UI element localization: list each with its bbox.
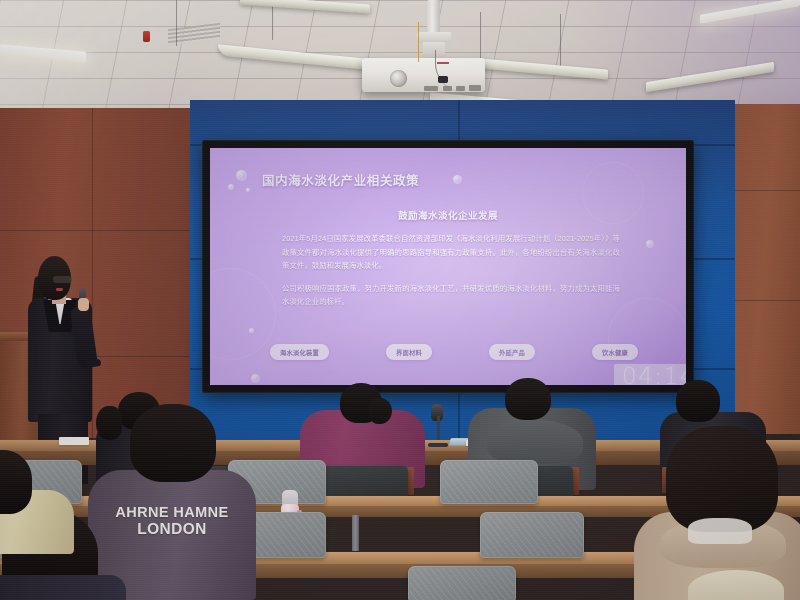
slide-title: 国内海水淡化产业相关政策 bbox=[262, 170, 419, 189]
audience-hair bbox=[130, 404, 216, 482]
slide-subtitle: 鼓励海水淡化企业发展 bbox=[210, 208, 686, 222]
ring-decor-icon bbox=[210, 268, 276, 360]
fire-alarm-icon bbox=[143, 31, 150, 42]
lecture-hall-scene: 国内海水淡化产业相关政策 鼓励海水淡化企业发展 2021年5月24日国家发展改革… bbox=[0, 0, 800, 600]
projector-port bbox=[424, 86, 438, 91]
wood-wall-right bbox=[728, 104, 800, 434]
hoodie-inner-lining bbox=[688, 518, 752, 544]
hoodie-text-line-2: LONDON bbox=[96, 522, 248, 538]
desk-paper bbox=[59, 437, 89, 445]
slide-pill-extended-product[interactable]: 外延产品 bbox=[489, 344, 535, 360]
audience-head bbox=[676, 380, 720, 422]
slide-pill-drinking-water-health[interactable]: 饮水健康 bbox=[592, 344, 638, 360]
slide-body-text: 2021年5月24日国家发展改革委联合自然资源部印发《海水淡化利用发展行动计划（… bbox=[282, 232, 620, 318]
slide-pill-desalination-device[interactable]: 海水淡化装置 bbox=[270, 344, 329, 360]
desk-leg bbox=[352, 515, 359, 551]
slide-paragraph-1: 2021年5月24日国家发展改革委联合自然资源部印发《海水淡化利用发展行动计划（… bbox=[282, 232, 620, 273]
lamp-wire bbox=[560, 14, 561, 66]
countdown-timer: 04:14 bbox=[614, 364, 686, 385]
bubble-decor-icon bbox=[453, 175, 462, 184]
bubble-decor-icon bbox=[246, 188, 250, 192]
presenter-glasses-icon bbox=[53, 276, 72, 283]
bubble-decor-icon bbox=[228, 184, 234, 190]
audience-torso bbox=[0, 575, 126, 600]
audience-hair bbox=[666, 426, 778, 532]
audience-hair bbox=[96, 406, 122, 440]
hoodie-text-line-1: AHRNE HAMNE bbox=[96, 506, 248, 521]
presenter-hand bbox=[78, 298, 89, 311]
projector-port bbox=[469, 85, 481, 91]
slide-pill-row: 海水淡化装置 界面材料 外延产品 饮水健康 bbox=[270, 344, 638, 360]
bubble-decor-icon bbox=[646, 240, 654, 248]
audience-hair-bun bbox=[369, 398, 392, 424]
bubble-decor-icon bbox=[236, 170, 247, 181]
audience-hood bbox=[487, 420, 583, 464]
projector-lens-icon bbox=[390, 70, 407, 87]
presentation-screen[interactable]: 国内海水淡化产业相关政策 鼓励海水淡化企业发展 2021年5月24日国家发展改革… bbox=[210, 148, 686, 385]
lamp-wire bbox=[176, 0, 177, 46]
lamp-wire bbox=[480, 12, 481, 64]
slide-paragraph-2: 公司积极响应国家政策，努力开发新的海水淡化工艺，并研发优质的海水淡化材料，努力成… bbox=[282, 282, 620, 309]
bubble-decor-icon bbox=[251, 374, 260, 383]
projector-cable-tie bbox=[437, 62, 449, 64]
projector-connector bbox=[438, 76, 448, 83]
desk-microphone-base bbox=[428, 443, 448, 447]
presenter-lips bbox=[56, 288, 63, 291]
audience-head bbox=[505, 378, 551, 420]
slide-pill-interface-material[interactable]: 界面材料 bbox=[386, 344, 432, 360]
